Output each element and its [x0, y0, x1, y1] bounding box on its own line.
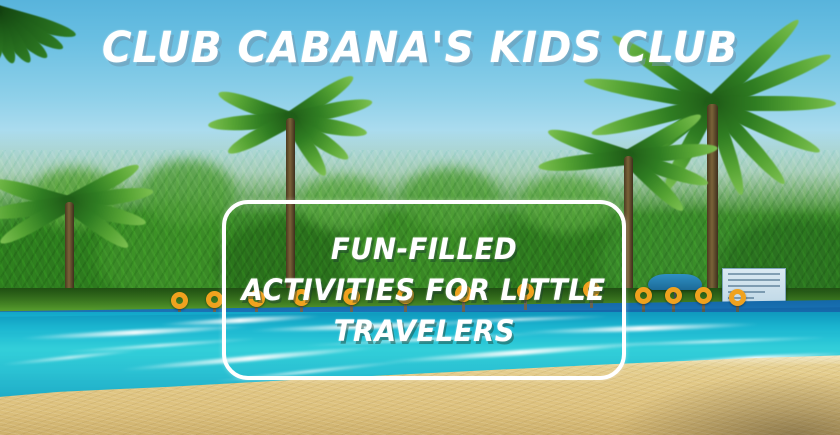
promo-banner: CLUB CABANA'S KIDS CLUB FUN-FILLED ACTIV… — [0, 0, 840, 435]
subtitle-line-2: ACTIVITIES FOR LITTLE — [242, 275, 606, 305]
subtitle-block: FUN-FILLED ACTIVITIES FOR LITTLE TRAVELE… — [222, 200, 626, 380]
sand-shadow — [610, 373, 840, 435]
subtitle-line-3: TRAVELERS — [333, 316, 514, 346]
page-title: CLUB CABANA'S KIDS CLUB — [25, 26, 815, 70]
subtitle-line-1: FUN-FILLED — [331, 234, 517, 264]
